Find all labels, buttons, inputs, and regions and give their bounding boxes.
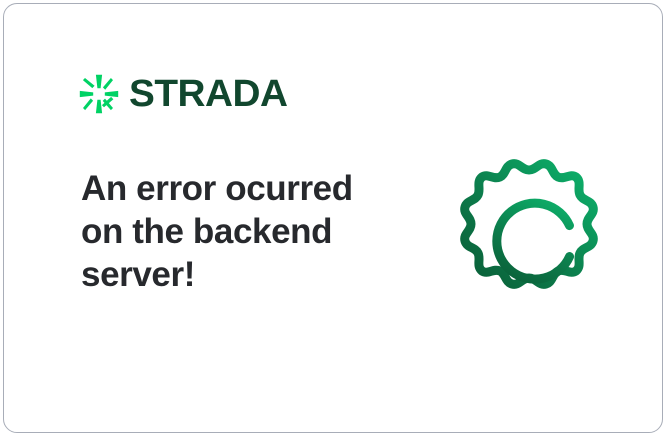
error-headline: An error ocurred on the backend server!	[81, 167, 381, 296]
gear-cog-icon	[449, 144, 609, 304]
error-card: STRADA An error ocurred on the backend s…	[3, 3, 663, 433]
brand-lockup: STRADA	[79, 72, 284, 116]
brand-wordmark: STRADA	[129, 75, 287, 113]
error-screen: STRADA An error ocurred on the backend s…	[0, 0, 666, 436]
strada-asterisk-icon	[79, 74, 119, 114]
